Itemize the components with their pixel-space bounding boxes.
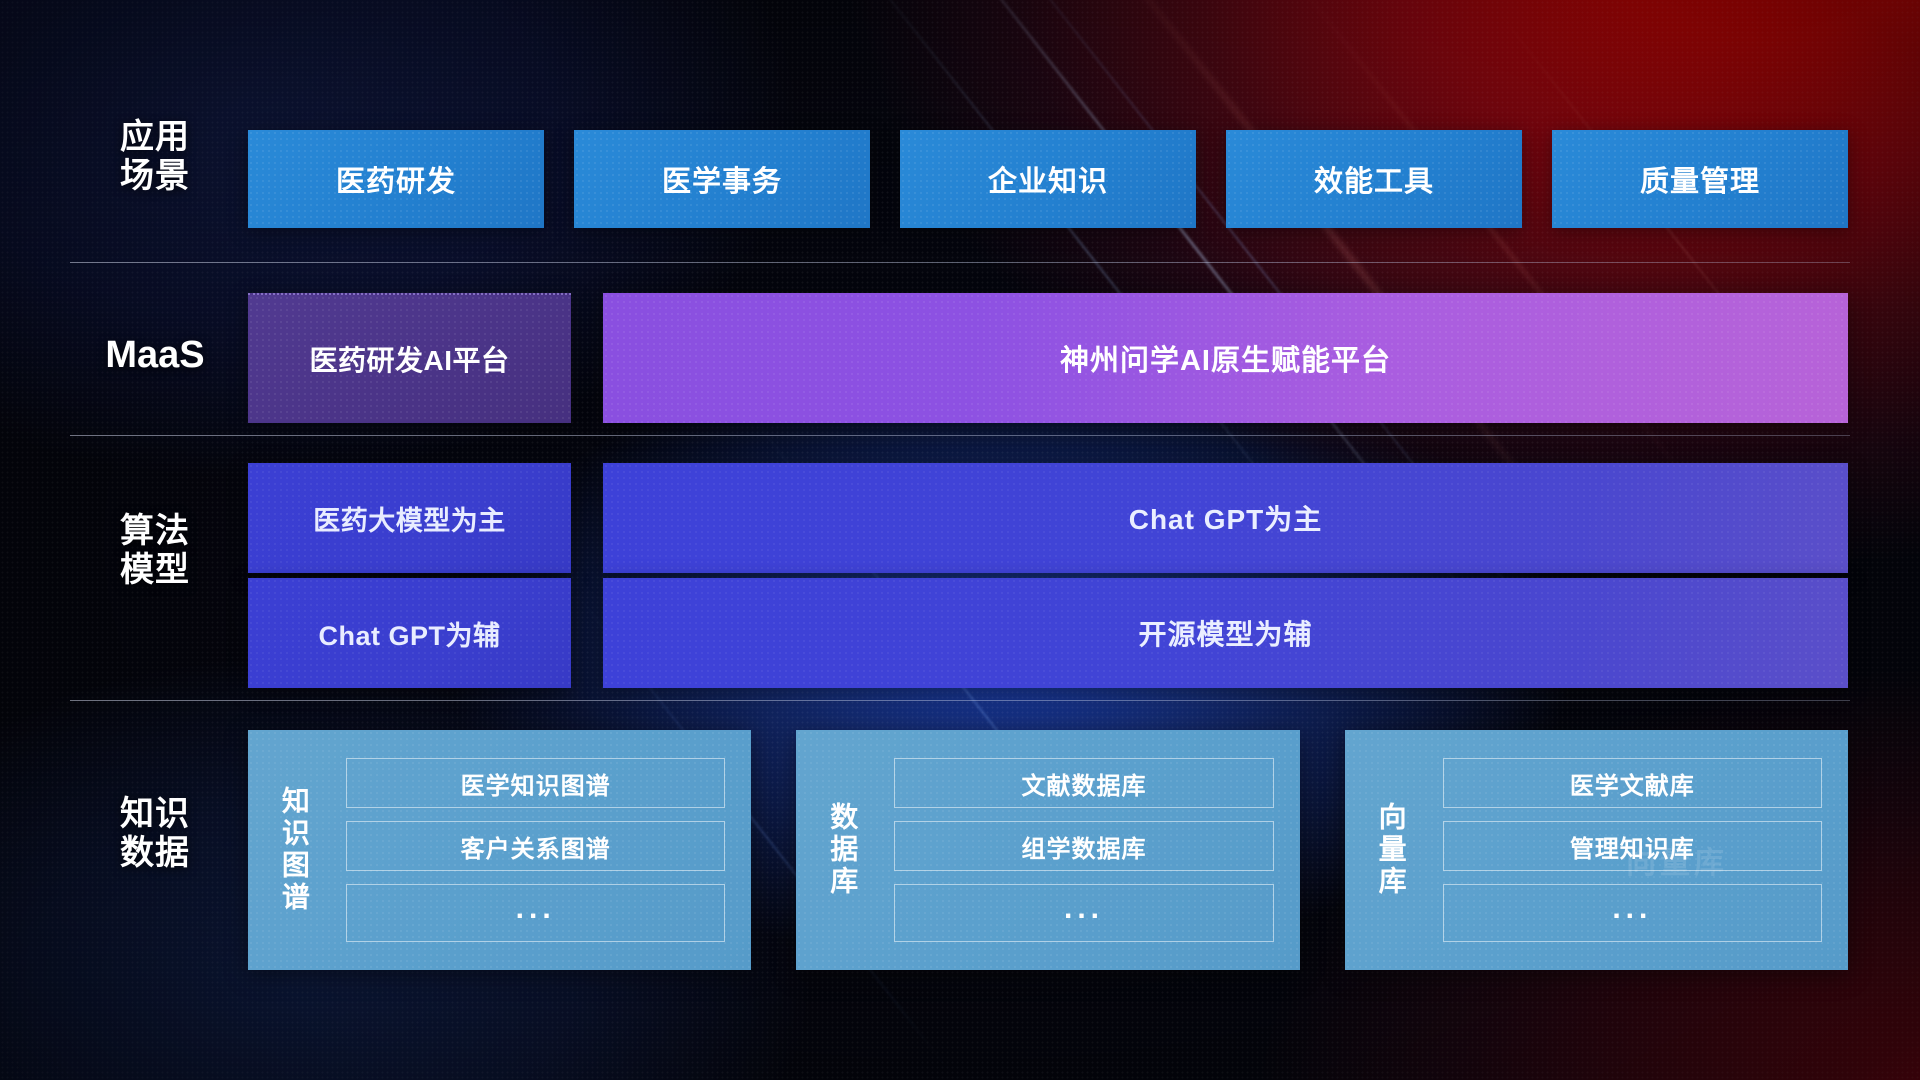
knowledge-items-vector: 医学文献库 管理知识库 ... (1437, 730, 1848, 970)
row-label-maas: MaaS (70, 333, 240, 377)
maas-box-shenzhou-wenxue-platform[interactable]: 神州问学AI原生赋能平台 (603, 293, 1848, 423)
knowledge-card-title-vector: 向量库 (1345, 730, 1437, 970)
knowledge-items-graph: 医学知识图谱 客户关系图谱 ... (340, 730, 751, 970)
app-box-enterprise-knowledge[interactable]: 企业知识 (900, 130, 1196, 228)
knowledge-card-graph[interactable]: 知识图谱 医学知识图谱 客户关系图谱 ... (248, 730, 751, 970)
knowledge-item-more-database[interactable]: ... (894, 884, 1273, 942)
maas-row: 医药研发AI平台 神州问学AI原生赋能平台 (248, 293, 1848, 423)
divider-algorithm-knowledge (70, 700, 1850, 701)
knowledge-card-title-database: 数据库 (796, 730, 888, 970)
algo-box-chatgpt-secondary[interactable]: Chat GPT为辅 (248, 578, 571, 688)
row-label-application: 应用 场景 (70, 118, 240, 197)
architecture-diagram: 应用 场景 医药研发 医学事务 企业知识 效能工具 质量管理 MaaS 医药研发… (0, 0, 1920, 1080)
knowledge-item-medical-literature-store[interactable]: 医学文献库 (1443, 758, 1822, 808)
knowledge-item-more-vector[interactable]: ... (1443, 884, 1822, 942)
divider-maas-algorithm (70, 435, 1850, 436)
row-label-knowledge: 知识 数据 (70, 795, 240, 874)
knowledge-card-title-graph: 知识图谱 (248, 730, 340, 970)
knowledge-item-management-knowledge-store[interactable]: 管理知识库 (1443, 821, 1822, 871)
knowledge-item-customer-relation-graph[interactable]: 客户关系图谱 (346, 821, 725, 871)
knowledge-card-vector[interactable]: 向量库 向量库 医学文献库 管理知识库 ... (1345, 730, 1848, 970)
app-box-medicine-rd[interactable]: 医药研发 (248, 130, 544, 228)
knowledge-row: 知识图谱 医学知识图谱 客户关系图谱 ... 数据库 文献数据库 组学数据库 .… (248, 730, 1848, 970)
algorithm-row-secondary: Chat GPT为辅 开源模型为辅 (248, 578, 1848, 688)
divider-application-maas (70, 262, 1850, 263)
knowledge-item-omics-database[interactable]: 组学数据库 (894, 821, 1273, 871)
algo-box-medicine-large-model-primary[interactable]: 医药大模型为主 (248, 463, 571, 573)
app-box-quality-management[interactable]: 质量管理 (1552, 130, 1848, 228)
algorithm-row-primary: 医药大模型为主 Chat GPT为主 (248, 463, 1848, 573)
application-row: 医药研发 医学事务 企业知识 效能工具 质量管理 (248, 130, 1848, 228)
algo-box-opensource-secondary[interactable]: 开源模型为辅 (603, 578, 1848, 688)
knowledge-item-literature-database[interactable]: 文献数据库 (894, 758, 1273, 808)
knowledge-item-more-graph[interactable]: ... (346, 884, 725, 942)
maas-box-medicine-rd-ai-platform[interactable]: 医药研发AI平台 (248, 293, 571, 423)
row-label-algorithm: 算法 模型 (70, 512, 240, 591)
knowledge-card-database[interactable]: 数据库 文献数据库 组学数据库 ... (796, 730, 1299, 970)
app-box-efficiency-tools[interactable]: 效能工具 (1226, 130, 1522, 228)
knowledge-item-medical-knowledge-graph[interactable]: 医学知识图谱 (346, 758, 725, 808)
app-box-medical-affairs[interactable]: 医学事务 (574, 130, 870, 228)
knowledge-items-database: 文献数据库 组学数据库 ... (888, 730, 1299, 970)
algo-box-chatgpt-primary[interactable]: Chat GPT为主 (603, 463, 1848, 573)
